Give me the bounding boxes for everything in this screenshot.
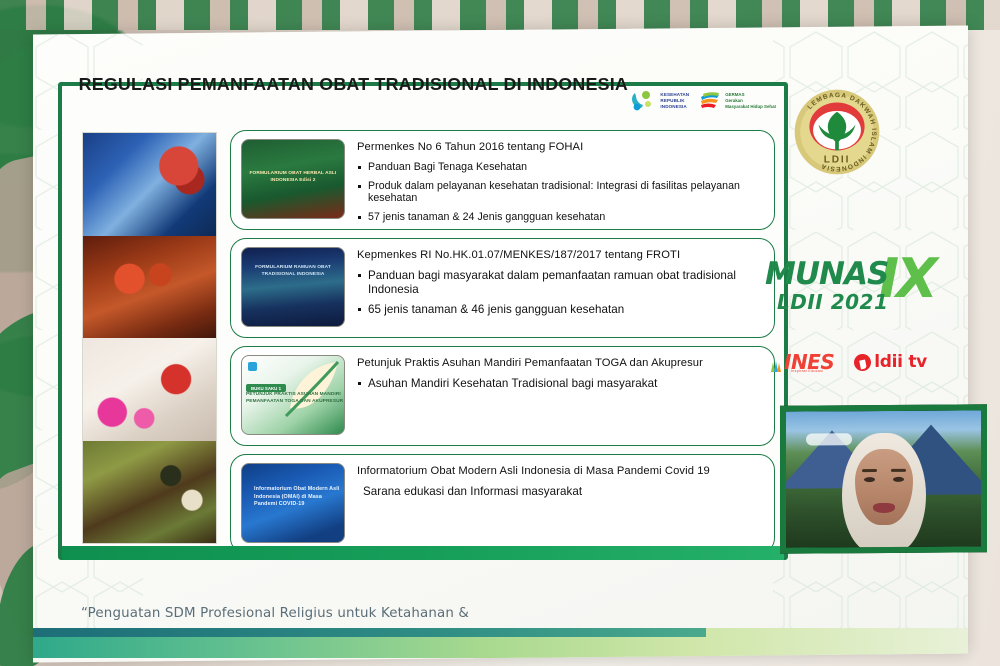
bullet-item: Sarana edukasi dan Informasi masyarakat xyxy=(357,485,764,499)
eyebrow-shape xyxy=(891,469,906,472)
omai-covid-book-cover: Informatorium Obat Modern Asli Indonesia… xyxy=(241,463,345,543)
kemenkes-logo-text: KESEHATAN REPUBLIK INDONESIA xyxy=(660,92,689,111)
regulation-bullets: Panduan Bagi Tenaga Kesehatan Produk dal… xyxy=(357,161,764,224)
bullet-item: 57 jenis tanaman & 24 Jenis gangguan kes… xyxy=(357,211,764,224)
regulation-heading: Petunjuk Praktis Asuhan Mandiri Pemanfaa… xyxy=(357,357,764,370)
slide-bottom-gradient-bar xyxy=(33,628,968,658)
face-shape xyxy=(855,449,913,525)
thumb-badge: BUKU SAKU 1 xyxy=(246,384,286,392)
regulation-box-list: FORMULARIUM OBAT HERBAL ASLI INDONESIA E… xyxy=(230,130,775,554)
regulation-box-body: Informatorium Obat Modern Asli Indonesia… xyxy=(345,463,764,505)
regulation-heading: Kepmenkes RI No.HK.01.07/MENKES/187/2017… xyxy=(357,249,764,262)
regulation-bullets: Asuhan Mandiri Kesehatan Tradisional bag… xyxy=(357,377,764,391)
projection-screen: REGULASI PEMANFAATAN OBAT TRADISIONAL DI… xyxy=(33,26,968,663)
bullet-item: Panduan Bagi Tenaga Kesehatan xyxy=(357,161,764,174)
bullet-item: 65 jenis tanaman & 46 jenis gangguan kes… xyxy=(357,303,764,317)
regulation-box-body: Kepmenkes RI No.HK.01.07/MENKES/187/2017… xyxy=(345,247,764,323)
germas-icon xyxy=(699,91,721,111)
kemenkes-line-3: INDONESIA xyxy=(660,104,689,110)
froti-book-cover: FORMULARIUM RAMUAN OBAT TRADISIONAL INDO… xyxy=(241,247,345,327)
ldii-tv-mark-icon xyxy=(854,354,871,371)
bullet-item: Panduan bagi masyarakat dalam pemanfaata… xyxy=(357,269,764,297)
munas-subtitle: LDII 2021 xyxy=(777,290,888,314)
spices-bowls-photo xyxy=(83,441,216,544)
eye-shape xyxy=(893,477,904,482)
presentation-photo-stage: REGULASI PEMANFAATAN OBAT TRADISIONAL DI… xyxy=(0,0,1000,666)
thumb-caption: FORMULARIUM RAMUAN OBAT TRADISIONAL INDO… xyxy=(242,265,344,279)
traditional-herbs-photo xyxy=(83,236,216,339)
regulation-box: FORMULARIUM OBAT HERBAL ASLI INDONESIA E… xyxy=(230,130,775,230)
backdrop-top-band xyxy=(0,0,1000,30)
regulation-bullets: Sarana edukasi dan Informasi masyarakat xyxy=(357,485,764,499)
bullet-item: Asuhan Mandiri Kesehatan Tradisional bag… xyxy=(357,377,764,391)
buku-saku-toga-cover: BUKU SAKU 1 PETUNJUK PRAKTIS ASUHAN MAND… xyxy=(241,355,345,435)
kemenkes-icon xyxy=(630,90,656,112)
speaker-video-feed[interactable] xyxy=(780,404,987,553)
slide-footer-bar xyxy=(62,546,784,560)
eyebrow-shape xyxy=(862,469,877,472)
bullet-item: Produk dalam pelayanan kesehatan tradisi… xyxy=(357,180,764,205)
regulation-bullets: Panduan bagi masyarakat dalam pemanfaata… xyxy=(357,269,764,317)
regulation-box: Informatorium Obat Modern Asli Indonesia… xyxy=(230,454,775,554)
speaker-figure xyxy=(842,432,926,553)
regulation-heading: Permenkes No 6 Tahun 2016 tentang FOHAI xyxy=(357,141,764,154)
pills-capsules-photo xyxy=(83,338,216,441)
ines-mark-icon xyxy=(769,360,782,374)
regulation-box-body: Permenkes No 6 Tahun 2016 tentang FOHAI … xyxy=(345,139,764,230)
lab-research-photo xyxy=(83,133,216,236)
regulation-box: FORMULARIUM RAMUAN OBAT TRADISIONAL INDO… xyxy=(230,238,775,338)
thumb-caption: Informatorium Obat Modern Asli Indonesia… xyxy=(254,486,344,509)
ldii-emblem: LEMBAGA DAKWAH ISLAM INDONESIA LDII xyxy=(791,86,883,178)
regulation-box-body: Petunjuk Praktis Asuhan Mandiri Pemanfaa… xyxy=(345,355,764,397)
regulation-heading: Informatorium Obat Modern Asli Indonesia… xyxy=(357,465,764,478)
formularium-book-cover: FORMULARIUM OBAT HERBAL ASLI INDONESIA E… xyxy=(241,139,345,219)
thumb-caption: FORMULARIUM OBAT HERBAL ASLI INDONESIA E… xyxy=(242,171,344,185)
ldii-tv-logo: ldii tv xyxy=(854,352,927,372)
slide-title: REGULASI PEMANFAATAN OBAT TRADISIONAL DI… xyxy=(79,74,628,95)
ldii-acronym: LDII xyxy=(824,154,850,165)
munas-wordmark: MUNAS xyxy=(765,260,888,289)
thumb-caption: PETUNJUK PRAKTIS ASUHAN MANDIRI PEMANFAA… xyxy=(246,392,344,406)
munas-event-logo: IX MUNAS LDII 2021 xyxy=(761,256,957,334)
regulation-box: BUKU SAKU 1 PETUNJUK PRAKTIS ASUHAN MAND… xyxy=(230,346,775,446)
kemenkes-line-1: KESEHATAN xyxy=(660,92,689,98)
broadcast-partner-logos: INES Inspirasi Edukasi ldii tv xyxy=(769,350,954,374)
eye-shape xyxy=(864,477,875,482)
ines-tv-logo: INES Inspirasi Edukasi xyxy=(769,350,834,374)
ines-subtext: Inspirasi Edukasi xyxy=(791,369,823,373)
slide-frame: REGULASI PEMANFAATAN OBAT TRADISIONAL DI… xyxy=(58,82,788,560)
slide-image-strip xyxy=(82,132,217,544)
kemenkes-logo: KESEHATAN REPUBLIK INDONESIA xyxy=(630,90,689,112)
ldii-tv-wordmark: ldii tv xyxy=(874,352,927,372)
mouth-shape xyxy=(873,503,895,513)
